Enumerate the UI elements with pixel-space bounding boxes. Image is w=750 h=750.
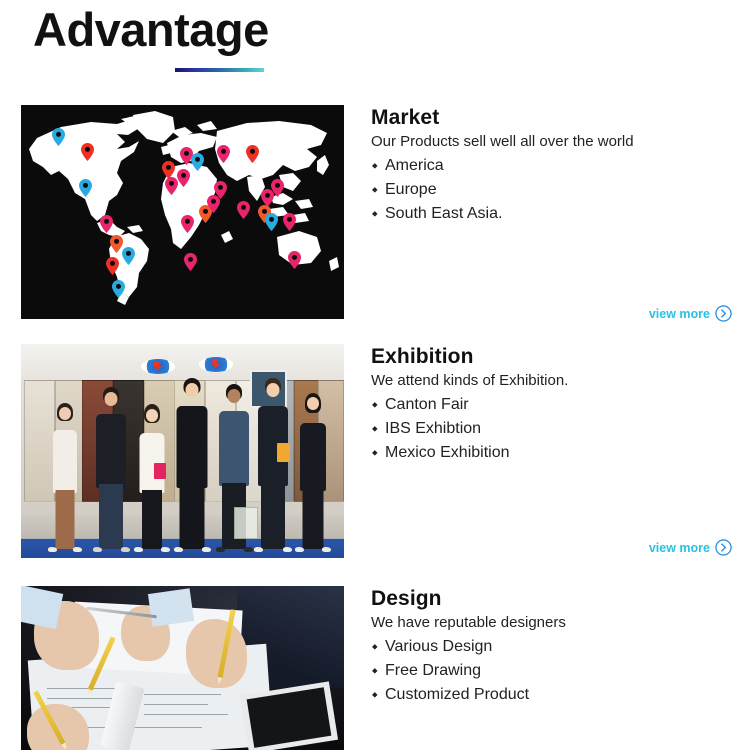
page-title: Advantage bbox=[33, 2, 269, 58]
map-pin bbox=[81, 143, 94, 161]
page-title-block: Advantage bbox=[33, 2, 269, 58]
list-item: Various Design bbox=[371, 635, 731, 659]
map-pin bbox=[100, 215, 113, 233]
design-text: Design We have reputable designers Vario… bbox=[371, 586, 731, 707]
market-text: Market Our Products sell well all over t… bbox=[371, 105, 731, 226]
map-pin bbox=[283, 213, 296, 231]
map-pin bbox=[265, 213, 278, 231]
exhibition-image bbox=[21, 344, 344, 558]
market-heading: Market bbox=[371, 105, 731, 130]
exhibition-bullet-list: Canton Fair IBS Exhibtion Mexico Exhibit… bbox=[371, 393, 731, 465]
map-pin bbox=[122, 247, 135, 265]
map-pin bbox=[217, 145, 230, 163]
list-item: Mexico Exhibition bbox=[371, 441, 731, 465]
shopping-bag bbox=[234, 507, 258, 539]
map-pin bbox=[184, 253, 197, 271]
person bbox=[44, 400, 86, 550]
map-pin bbox=[177, 169, 190, 187]
map-pin bbox=[106, 257, 119, 275]
exhibition-booth-photo bbox=[21, 344, 344, 558]
advantage-page: Advantage bbox=[0, 0, 750, 750]
map-pin bbox=[52, 128, 65, 146]
held-folder bbox=[277, 443, 290, 462]
list-item: South East Asia. bbox=[371, 202, 731, 226]
map-pin bbox=[271, 179, 284, 197]
design-desk-photo bbox=[21, 586, 344, 750]
design-bullet-list: Various Design Free Drawing Customized P… bbox=[371, 635, 731, 707]
shirt-cuff bbox=[148, 588, 194, 626]
map-pin bbox=[79, 179, 92, 197]
chevron-right-circle-icon bbox=[715, 305, 732, 322]
person bbox=[89, 387, 134, 550]
design-subtitle: We have reputable designers bbox=[371, 612, 731, 634]
world-map-graphic bbox=[21, 105, 344, 319]
exhibition-subtitle: We attend kinds of Exhibition. bbox=[371, 370, 731, 392]
map-pin bbox=[246, 145, 259, 163]
list-item: Europe bbox=[371, 178, 731, 202]
map-pin bbox=[214, 181, 227, 199]
brand-logo-icon bbox=[199, 357, 233, 372]
held-folder bbox=[154, 463, 166, 479]
design-image bbox=[21, 586, 344, 750]
market-subtitle: Our Products sell well all over the worl… bbox=[371, 131, 731, 153]
person bbox=[292, 391, 334, 549]
title-accent-rule bbox=[175, 68, 264, 72]
view-more-link-exhibition[interactable]: view more bbox=[649, 539, 732, 556]
view-more-label: view more bbox=[649, 541, 710, 555]
chevron-right-circle-icon bbox=[715, 539, 732, 556]
person bbox=[131, 400, 173, 550]
view-more-link-market[interactable]: view more bbox=[649, 305, 732, 322]
brand-logo-icon bbox=[141, 359, 175, 374]
map-pin bbox=[191, 153, 204, 171]
shirt-cuff bbox=[21, 586, 63, 630]
view-more-label: view more bbox=[649, 307, 710, 321]
map-pin bbox=[112, 280, 125, 298]
person bbox=[170, 378, 215, 549]
design-heading: Design bbox=[371, 586, 731, 611]
list-item: IBS Exhibtion bbox=[371, 417, 731, 441]
list-item: America bbox=[371, 154, 731, 178]
exhibition-text: Exhibition We attend kinds of Exhibition… bbox=[371, 344, 731, 465]
world-map-landmass bbox=[21, 105, 344, 319]
booth-ceiling bbox=[21, 344, 344, 380]
list-item: Canton Fair bbox=[371, 393, 731, 417]
market-image bbox=[21, 105, 344, 319]
list-item: Customized Product bbox=[371, 683, 731, 707]
map-pin bbox=[237, 201, 250, 219]
map-pin bbox=[181, 215, 194, 233]
list-item: Free Drawing bbox=[371, 659, 731, 683]
map-pin bbox=[288, 251, 301, 269]
exhibition-heading: Exhibition bbox=[371, 344, 731, 369]
market-bullet-list: America Europe South East Asia. bbox=[371, 154, 731, 226]
